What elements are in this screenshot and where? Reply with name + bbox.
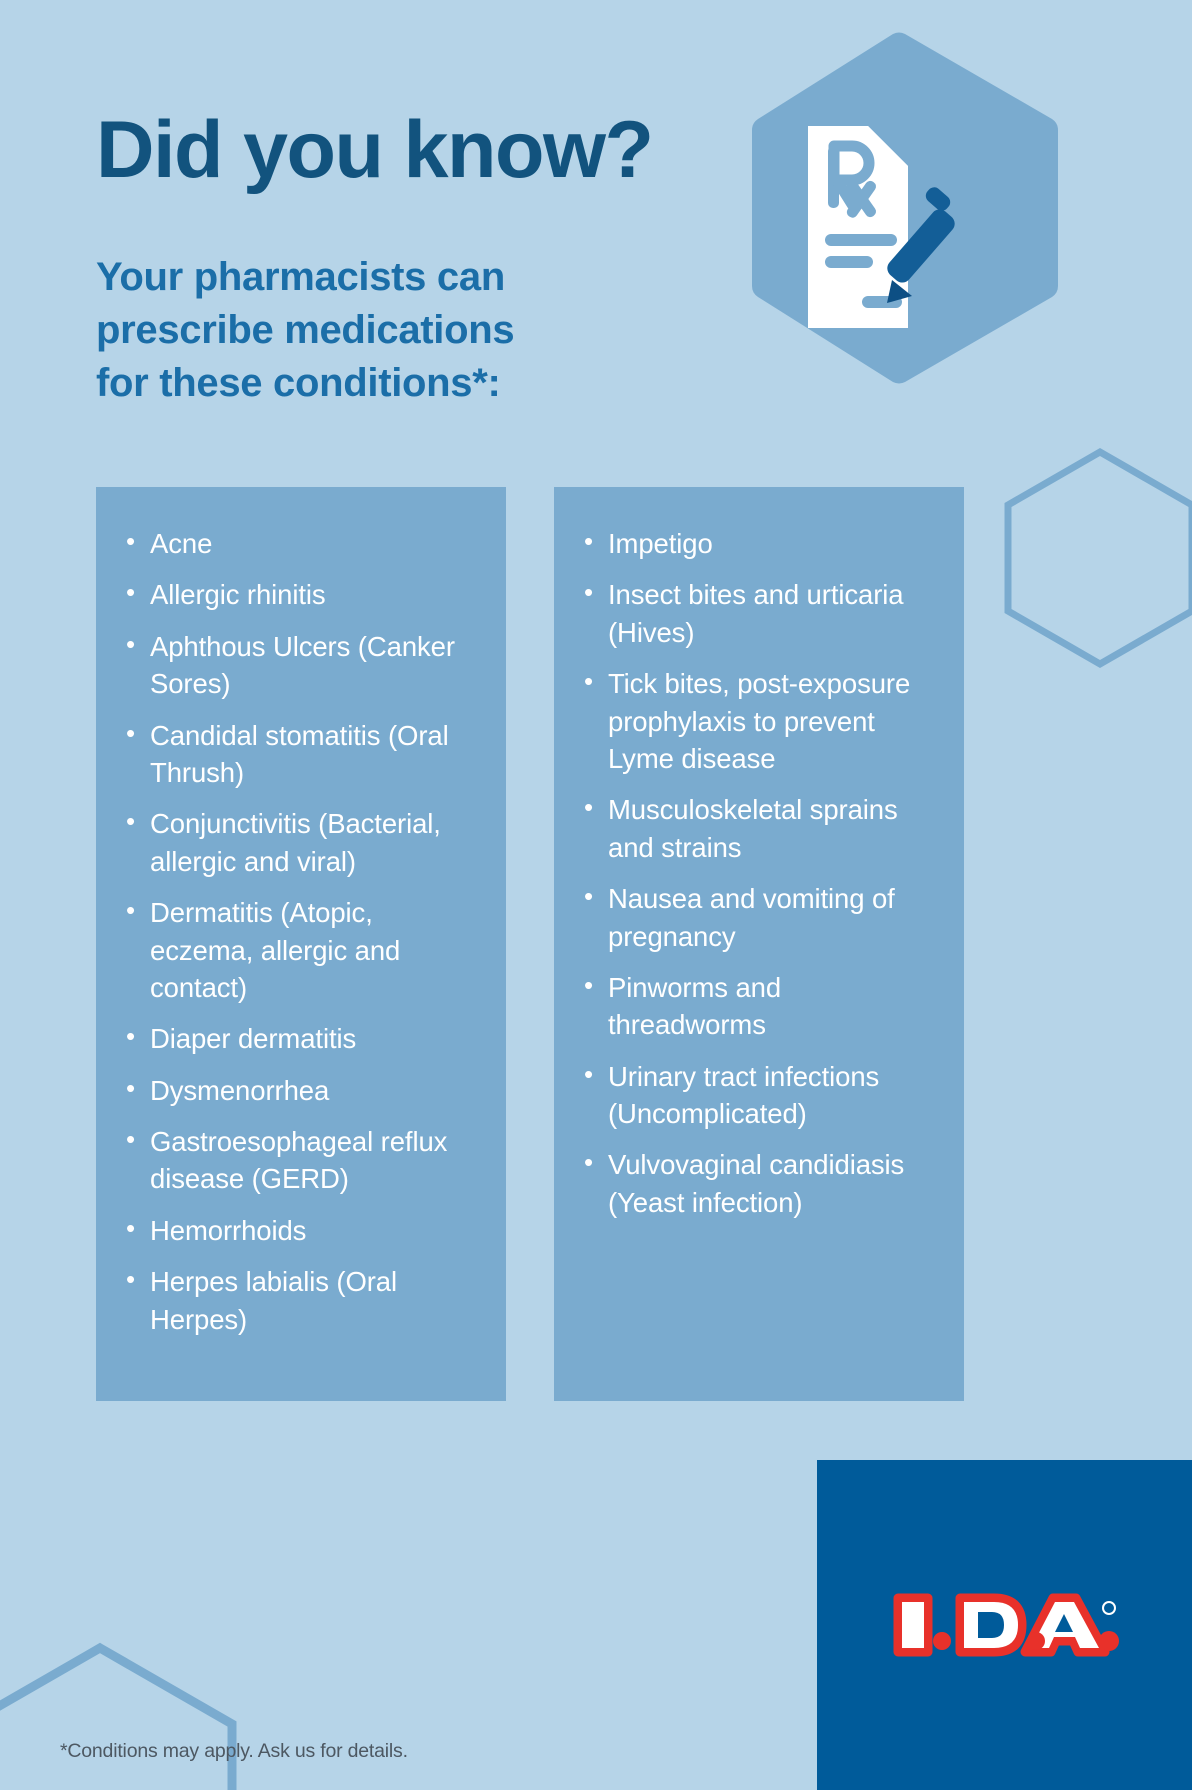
hexagon-outline-bottom-left (0, 1648, 232, 1790)
condition-list-item: Tick bites, post-exposure prophylaxis to… (578, 665, 940, 777)
condition-list-item: Impetigo (578, 525, 940, 562)
condition-list-item: Urinary tract infections (Uncomplicated) (578, 1058, 940, 1133)
condition-list-item: Dermatitis (Atopic, eczema, allergic and… (120, 894, 482, 1006)
sheet-line-1 (825, 234, 897, 246)
ida-logo-block (817, 1460, 1192, 1790)
logo-registered-mark (1103, 1602, 1115, 1614)
condition-list-item: Dysmenorrhea (120, 1072, 482, 1109)
logo-dot-2 (1027, 1632, 1045, 1650)
condition-list-item: Hemorrhoids (120, 1212, 482, 1249)
condition-list-item: Insect bites and urticaria (Hives) (578, 576, 940, 651)
ida-pharmacy-logo (890, 1586, 1120, 1664)
subtitle-line-3: for these conditions*: (96, 361, 501, 405)
condition-list-item: Allergic rhinitis (120, 576, 482, 613)
condition-list-item: Herpes labialis (Oral Herpes) (120, 1263, 482, 1338)
conditions-list-right: ImpetigoInsect bites and urticaria (Hive… (578, 525, 940, 1221)
poster-header: Did you know? Your pharmacists can presc… (96, 110, 716, 409)
condition-list-item: Conjunctivitis (Bacterial, allergic and … (120, 805, 482, 880)
conditions-panels: AcneAllergic rhinitisAphthous Ulcers (Ca… (96, 487, 1096, 1401)
condition-list-item: Vulvovaginal candidiasis (Yeast infectio… (578, 1146, 940, 1221)
rx-prescription-icon (740, 28, 1070, 388)
condition-list-item: Aphthous Ulcers (Canker Sores) (120, 628, 482, 703)
conditions-list-left: AcneAllergic rhinitisAphthous Ulcers (Ca… (120, 525, 482, 1338)
subtitle-line-2: prescribe medications (96, 308, 514, 352)
page-title: Did you know? (96, 110, 716, 191)
conditions-panel-left: AcneAllergic rhinitisAphthous Ulcers (Ca… (96, 487, 506, 1401)
logo-dot-3 (1099, 1631, 1119, 1651)
condition-list-item: Candidal stomatitis (Oral Thrush) (120, 717, 482, 792)
condition-list-item: Nausea and vomiting of pregnancy (578, 880, 940, 955)
footnote-text: *Conditions may apply. Ask us for detail… (60, 1740, 408, 1763)
condition-list-item: Diaper dermatitis (120, 1020, 482, 1057)
logo-dot-1 (933, 1632, 951, 1650)
condition-list-item: Gastroesophageal reflux disease (GERD) (120, 1123, 482, 1198)
subtitle-line-1: Your pharmacists can (96, 255, 505, 299)
conditions-panel-right: ImpetigoInsect bites and urticaria (Hive… (554, 487, 964, 1401)
page-subtitle: Your pharmacists can prescribe medicatio… (96, 251, 716, 409)
sheet-line-2 (825, 256, 873, 268)
condition-list-item: Musculoskeletal sprains and strains (578, 791, 940, 866)
condition-list-item: Acne (120, 525, 482, 562)
condition-list-item: Pinworms and threadworms (578, 969, 940, 1044)
